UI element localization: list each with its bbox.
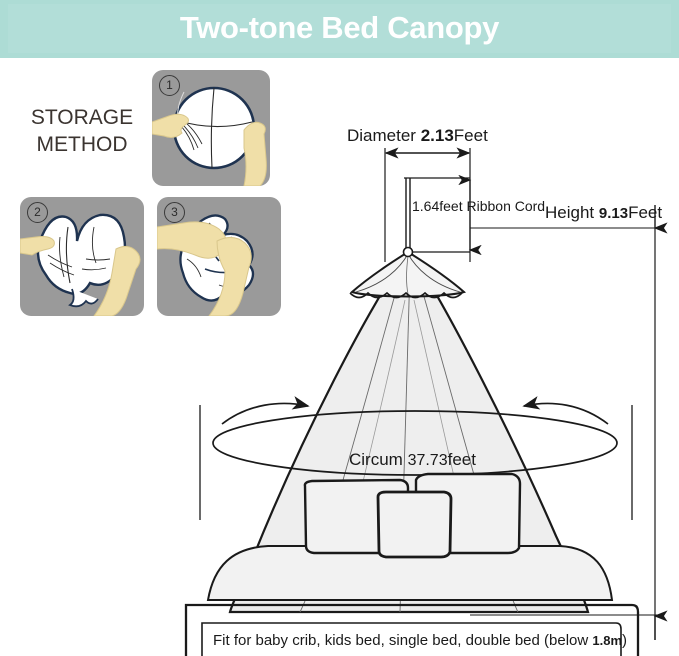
ribbon-suffix: feet Ribbon Cord [439,198,545,214]
diameter-suffix: Feet [454,126,488,145]
diameter-value: 2.13 [421,126,454,145]
panel-number-2: 2 [27,202,48,223]
canopy-diagram [0,0,679,656]
ribbon-value: 1.64 [412,198,439,214]
fit-caption: Fit for baby crib, kids bed, single bed,… [213,632,627,649]
circum-suffix: feet [448,450,476,469]
diameter-prefix: Diameter [347,126,421,145]
circumference-label: Circum 37.73feet [349,450,476,470]
fit-text-before: Fit for baby crib, kids bed, single bed,… [213,632,592,649]
canopy-crown [350,248,464,298]
product-infographic: Two-tone Bed Canopy STORAGE METHOD 1 [0,0,679,656]
panel-number-3: 3 [164,202,185,223]
fit-size-value: 1.8m [592,633,622,648]
diameter-label: Diameter 2.13Feet [347,126,488,146]
height-value: 9.13 [599,205,628,222]
panel-number-1: 1 [159,75,180,96]
circum-prefix: Circum [349,450,408,469]
ribbon-cord-label: 1.64feet Ribbon Cord [412,198,545,214]
circum-value: 37.73 [408,452,448,469]
ribbon-cord [404,178,470,252]
height-label: Height 9.13Feet [545,203,662,223]
height-suffix: Feet [628,203,662,222]
fit-text-after: ) [622,632,627,649]
height-prefix: Height [545,203,599,222]
